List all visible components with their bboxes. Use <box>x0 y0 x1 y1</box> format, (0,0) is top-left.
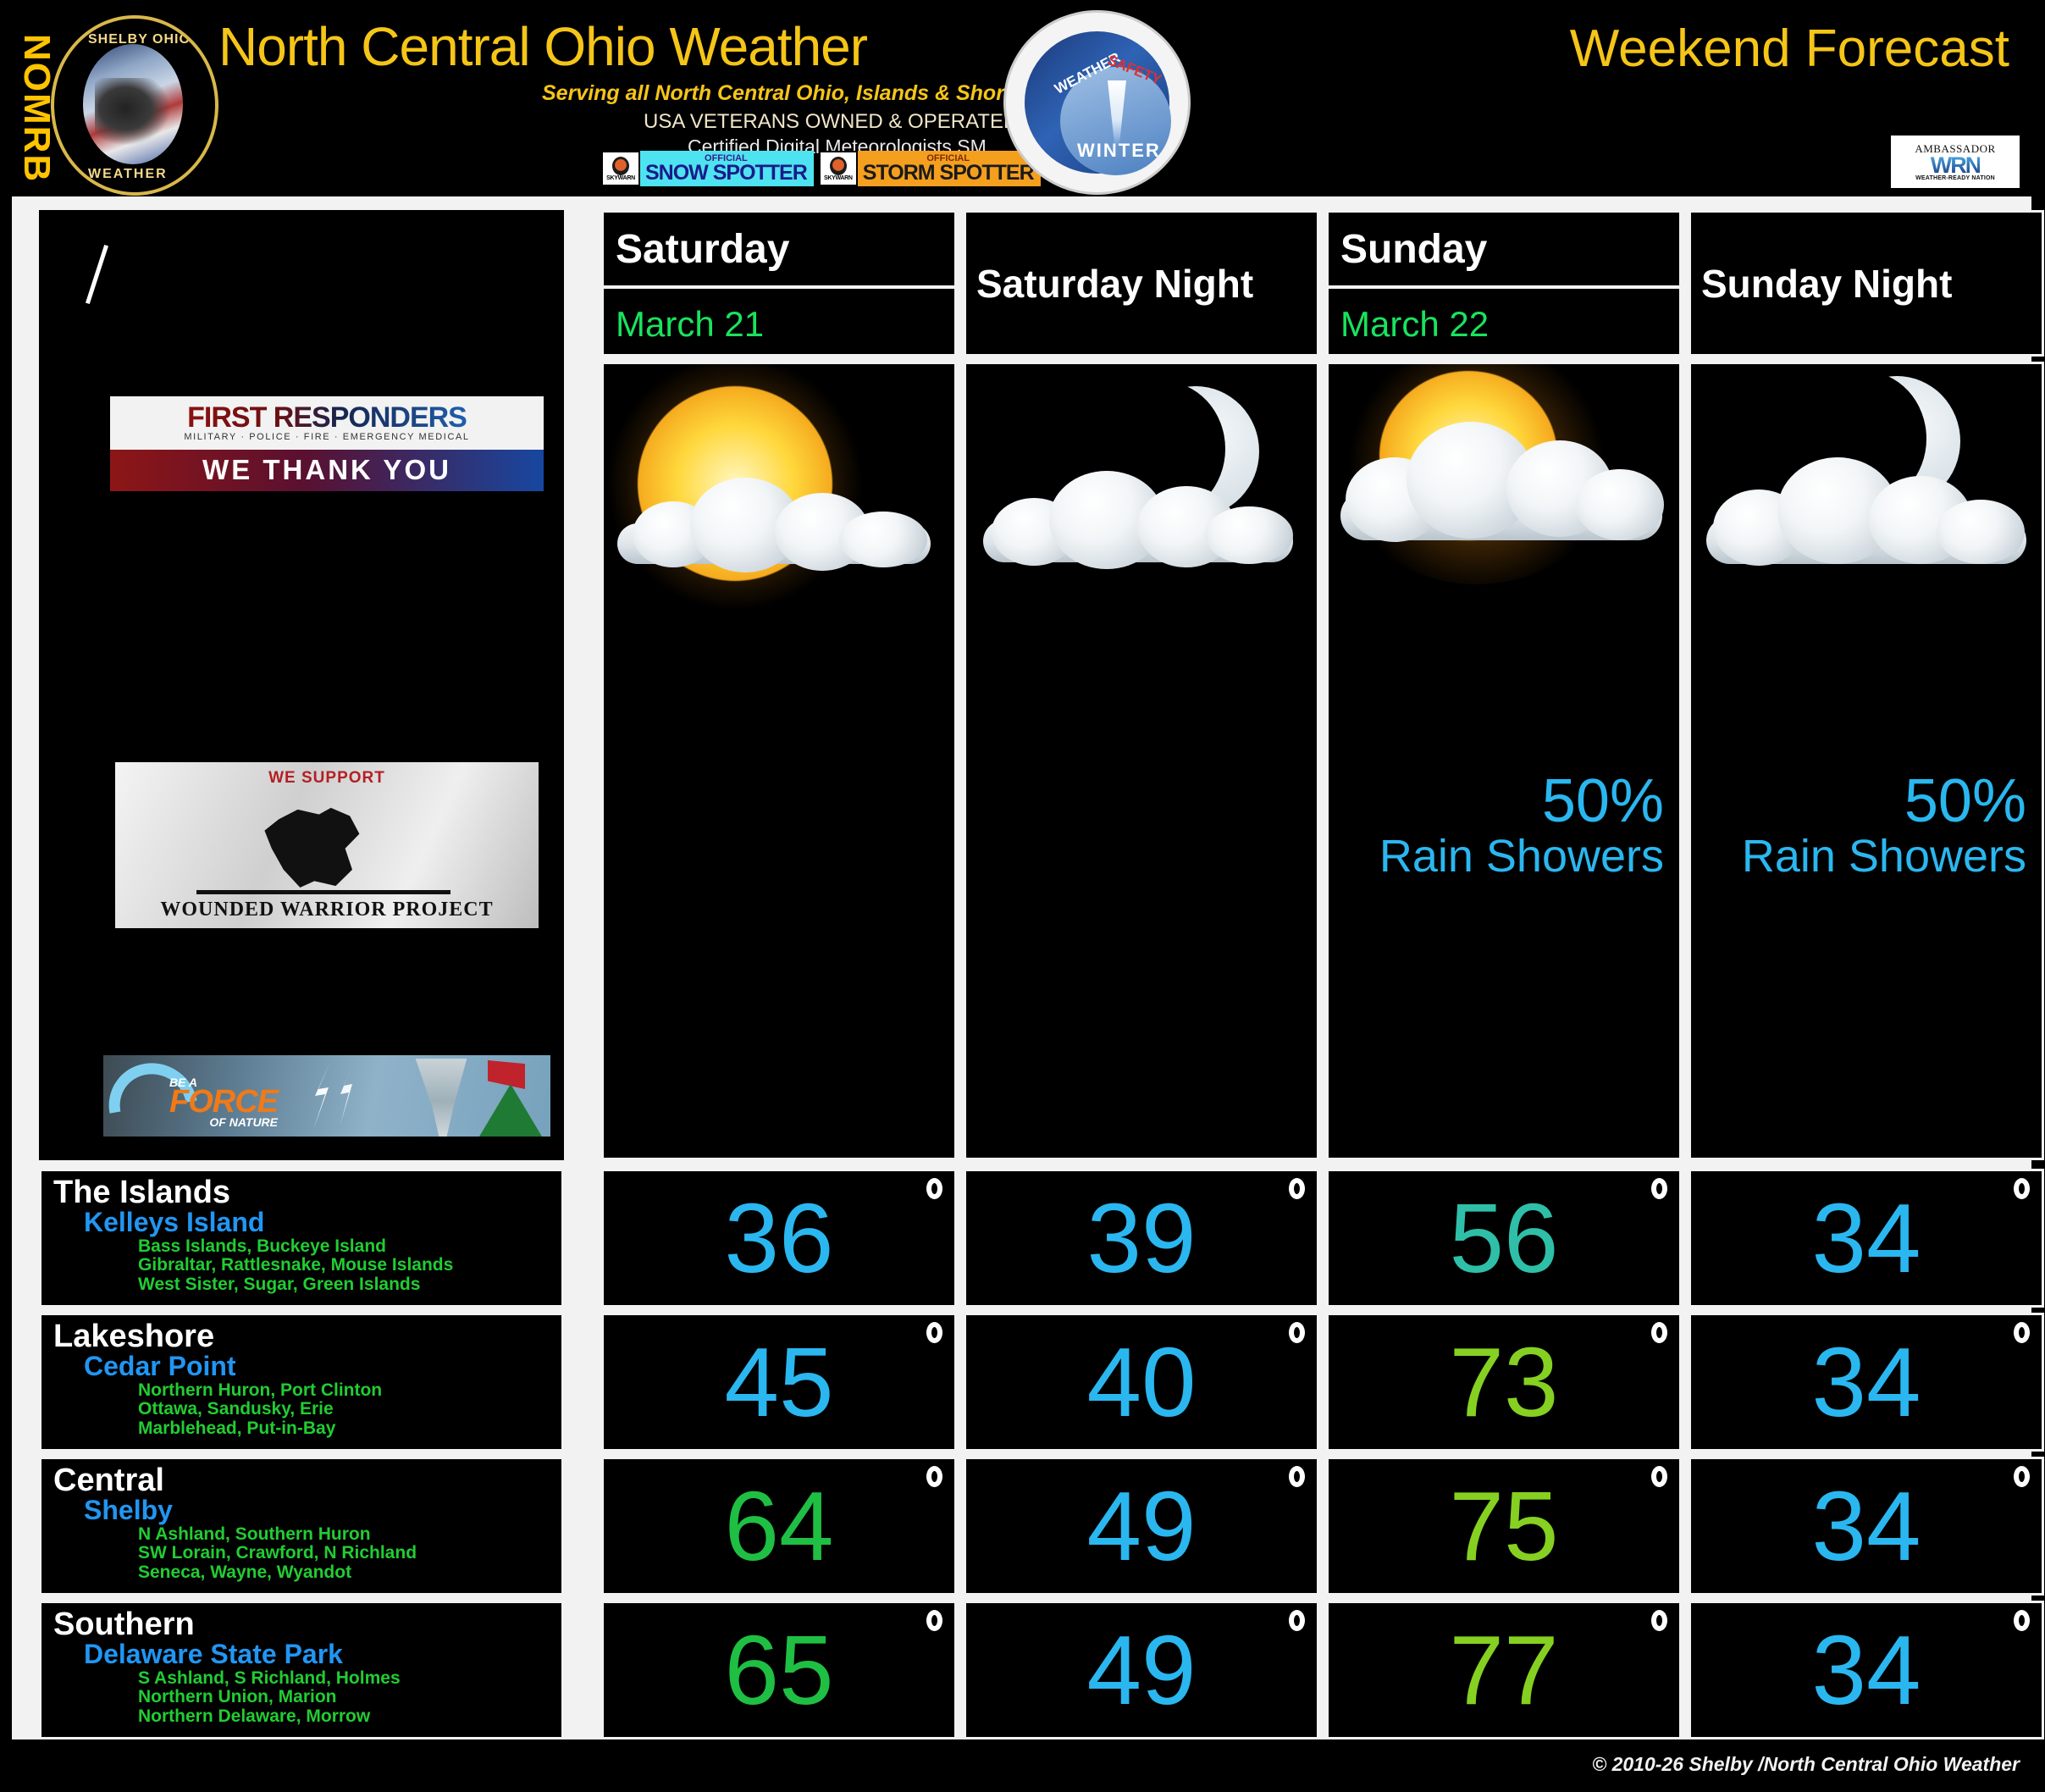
temp-value: 65 <box>724 1621 833 1719</box>
region-detail-2: SW Lorain, Crawford, N Richland <box>138 1544 561 1563</box>
temp-cell: 34 <box>1689 1457 2044 1596</box>
day-header-saturday: Saturday March 21 <box>601 210 957 357</box>
cloud-icon <box>1696 452 2038 566</box>
temp-value: 77 <box>1449 1621 1558 1719</box>
snow-spotter-badge: SKYWARN OFFICIAL SNOW SPOTTER <box>601 151 814 186</box>
temp-cell: 39 <box>964 1169 1319 1308</box>
region-labels: The Islands Kelleys Island Bass Islands,… <box>39 1169 564 1745</box>
degree-icon <box>2014 1610 2030 1631</box>
region-name: Lakeshore <box>53 1320 561 1352</box>
degree-icon <box>1651 1322 1667 1343</box>
first-responders-subline: MILITARY · POLICE · FIRE · EMERGENCY MED… <box>184 432 469 442</box>
temp-cell: 77 <box>1326 1601 1682 1739</box>
first-responders-bottom: WE THANK YOU <box>110 450 544 491</box>
region-row-lakeshore: Lakeshore Cedar Point Northern Huron, Po… <box>39 1313 564 1452</box>
degree-icon <box>2014 1322 2030 1343</box>
seal-text: SHELBY OHIO WEATHER <box>54 19 215 192</box>
region-city: Delaware State Park <box>84 1640 561 1669</box>
seal-bottom-text: WEATHER <box>88 167 168 182</box>
temp-cell: 49 <box>964 1601 1319 1739</box>
region-row-central: Central Shelby N Ashland, Southern Huron… <box>39 1457 564 1596</box>
skywarn-label-2: SKYWARN <box>824 175 853 181</box>
we-support-label: WE SUPPORT <box>115 762 539 788</box>
degree-icon <box>926 1466 942 1487</box>
precip-percent: 50% <box>1742 771 2026 832</box>
region-name: Southern <box>53 1608 561 1640</box>
temp-cell: 40 <box>964 1313 1319 1452</box>
region-name: Central <box>53 1464 561 1496</box>
site-subtitle-veterans: USA VETERANS OWNED & OPERATED <box>644 110 1018 134</box>
precip-probability-sunday-night: 50% Rain Showers <box>1742 771 2026 882</box>
page-footer: © 2010-26 Shelby /North Central Ohio Wea… <box>0 1739 2045 1792</box>
region-name: The Islands <box>53 1176 561 1208</box>
temp-cell: 34 <box>1689 1169 2044 1308</box>
storm-spotter-badge: SKYWARN OFFICIAL STORM SPOTTER <box>819 151 1041 186</box>
temp-value: 34 <box>1811 1189 1921 1287</box>
degree-icon <box>1289 1178 1305 1199</box>
wrn-logo-text: WRN <box>1931 156 1980 175</box>
seal-ring: WEATHER SAFETY WINTER <box>1025 31 1169 174</box>
region-row-southern: Southern Delaware State Park S Ashland, … <box>39 1601 564 1739</box>
snow-spotter-body: OFFICIAL SNOW SPOTTER <box>640 151 814 186</box>
skywarn-icon: SKYWARN <box>601 151 640 186</box>
forecast-column-sunday: Sunday March 22 50% Rain Showers <box>1326 210 1682 1160</box>
page-header: NOMRB SHELBY OHIO WEATHER North Central … <box>0 0 2045 196</box>
region-detail-1: S Ashland, S Richland, Holmes <box>138 1669 561 1689</box>
temp-cell: 65 <box>601 1601 957 1739</box>
region-city: Cedar Point <box>84 1352 561 1381</box>
spotter-badges: SKYWARN OFFICIAL SNOW SPOTTER SKYWARN OF… <box>601 151 1041 186</box>
day-name: Saturday <box>616 226 789 273</box>
region-row-the-islands: The Islands Kelleys Island Bass Islands,… <box>39 1169 564 1308</box>
degree-icon <box>1289 1322 1305 1343</box>
temp-value: 34 <box>1811 1477 1921 1575</box>
precip-type: Rain Showers <box>1379 832 1664 882</box>
copyright-text: © 2010-26 Shelby /North Central Ohio Wea… <box>1592 1753 2020 1776</box>
forecast-column-sunday-night: Sunday Night 50% Rain Showers <box>1689 210 2044 1160</box>
temp-cell: 75 <box>1326 1457 1682 1596</box>
precip-percent: 50% <box>1379 771 1664 832</box>
day-name-row: Saturday <box>604 213 954 289</box>
region-detail-1: Northern Huron, Port Clinton <box>138 1381 561 1401</box>
degree-icon <box>1651 1466 1667 1487</box>
sponsor-sidebar <box>39 210 564 1160</box>
storm-spotter-body: OFFICIAL STORM SPOTTER <box>858 151 1041 186</box>
temp-cell: 73 <box>1326 1313 1682 1452</box>
first-responders-top: FIRST RESPONDERS MILITARY · POLICE · FIR… <box>110 396 544 450</box>
temp-value: 39 <box>1086 1189 1196 1287</box>
temp-value: 49 <box>1086 1621 1196 1719</box>
temperature-column-sunday: 56 73 75 77 <box>1326 1169 1682 1745</box>
temp-cell: 34 <box>1689 1601 2044 1739</box>
wounded-warrior-banner: WE SUPPORT WOUNDED WARRIOR PROJECT <box>115 762 539 928</box>
first-responders-banner: FIRST RESPONDERS MILITARY · POLICE · FIR… <box>110 396 544 491</box>
temp-cell: 56 <box>1326 1169 1682 1308</box>
day-header-sunday: Sunday March 22 <box>1326 210 1682 357</box>
lightning-icon <box>281 1060 383 1131</box>
region-detail-2: Northern Union, Marion <box>138 1688 561 1707</box>
temp-value: 56 <box>1449 1189 1558 1287</box>
degree-icon <box>2014 1178 2030 1199</box>
temp-value: 34 <box>1811 1333 1921 1431</box>
day-header-saturday-night: Saturday Night <box>964 210 1319 357</box>
region-detail-3: Seneca, Wayne, Wyandot <box>138 1563 561 1583</box>
site-subtitle-serving: Serving all North Central Ohio, Islands … <box>542 81 1053 106</box>
wrn-ambassador-badge: AMBASSADOR WRN WEATHER-READY NATION <box>1891 136 2020 188</box>
degree-icon <box>926 1322 942 1343</box>
temp-value: 49 <box>1086 1477 1196 1575</box>
day-name-row: Sunday <box>1329 213 1679 289</box>
cloud-icon <box>1329 413 1676 549</box>
temp-value: 36 <box>724 1189 833 1287</box>
forecast-column-saturday-night: Saturday Night <box>964 210 1319 1160</box>
region-detail-3: Marblehead, Put-in-Bay <box>138 1419 561 1439</box>
temp-cell: 34 <box>1689 1313 2044 1452</box>
temp-value: 40 <box>1086 1333 1196 1431</box>
icicle-icon <box>1108 80 1126 147</box>
forecast-column-saturday: Saturday March 21 <box>601 210 957 1160</box>
degree-icon <box>1289 1610 1305 1631</box>
region-detail-1: Bass Islands, Buckeye Island <box>138 1237 561 1257</box>
temp-value: 45 <box>724 1333 833 1431</box>
day-date-row: March 21 <box>604 289 954 359</box>
region-detail-3: West Sister, Sugar, Green Islands <box>138 1275 561 1295</box>
wounded-warrior-silhouette-icon <box>257 806 376 888</box>
wrn-tagline: WEATHER-READY NATION <box>1915 175 1995 181</box>
first-responders-thanks: WE THANK YOU <box>202 454 451 486</box>
day-header-sunday-night: Sunday Night <box>1689 210 2044 357</box>
degree-icon <box>1289 1466 1305 1487</box>
skywarn-icon-2: SKYWARN <box>819 151 858 186</box>
snow-spotter-label: SNOW SPOTTER <box>645 163 807 184</box>
precip-type: Rain Showers <box>1742 832 2026 882</box>
day-name: Sunday Night <box>1701 261 1952 307</box>
force-of-nature-banner: BE A FORCE OF NATURE <box>103 1055 550 1137</box>
temp-value: 34 <box>1811 1621 1921 1719</box>
degree-icon <box>1651 1610 1667 1631</box>
day-date-row: March 22 <box>1329 289 1679 359</box>
temp-value: 64 <box>724 1477 833 1575</box>
cloud-icon <box>971 466 1310 564</box>
day-name: Saturday Night <box>976 261 1253 307</box>
temp-value: 73 <box>1449 1333 1558 1431</box>
skywarn-eye-icon <box>612 157 629 175</box>
day-date: March 21 <box>616 304 764 345</box>
sky-condition-sunday-night: 50% Rain Showers <box>1689 362 2044 1160</box>
sky-condition-saturday-night <box>964 362 1319 1160</box>
degree-icon <box>926 1610 942 1631</box>
precip-probability-sunday: 50% Rain Showers <box>1379 771 1664 882</box>
day-name: Sunday <box>1340 226 1487 273</box>
cloud-icon <box>609 471 948 564</box>
degree-icon <box>926 1178 942 1199</box>
skywarn-eye-icon-2 <box>830 157 847 175</box>
shelby-ohio-weather-seal-logo: SHELBY OHIO WEATHER <box>51 15 218 196</box>
region-detail-2: Gibraltar, Rattlesnake, Mouse Islands <box>138 1256 561 1275</box>
degree-icon <box>1651 1178 1667 1199</box>
temp-cell: 36 <box>601 1169 957 1308</box>
region-detail-2: Ottawa, Sandusky, Erie <box>138 1400 561 1419</box>
temp-cell: 64 <box>601 1457 957 1596</box>
site-title: North Central Ohio Weather <box>218 15 867 78</box>
first-responders-headline: FIRST RESPONDERS <box>187 404 467 431</box>
wounded-warrior-project-label: WOUNDED WARRIOR PROJECT <box>115 899 539 921</box>
wounded-warrior-baseline <box>196 890 450 894</box>
region-city: Kelleys Island <box>84 1208 561 1237</box>
temperature-column-sunday-night: 34 34 34 34 <box>1689 1169 2044 1745</box>
weather-safety-winter-seal: WEATHER SAFETY WINTER <box>1003 10 1191 195</box>
temp-value: 75 <box>1449 1477 1558 1575</box>
region-detail-3: Northern Delaware, Morrow <box>138 1707 561 1727</box>
temperature-column-saturday-night: 39 40 49 49 <box>964 1169 1319 1745</box>
degree-icon <box>2014 1466 2030 1487</box>
page-title: Weekend Forecast <box>1570 19 2009 79</box>
force-text: BE A FORCE OF NATURE <box>169 1076 278 1129</box>
temp-cell: 49 <box>964 1457 1319 1596</box>
sky-condition-saturday <box>601 362 957 1160</box>
sky-condition-sunday: 50% Rain Showers <box>1326 362 1682 1160</box>
skywarn-label: SKYWARN <box>606 175 635 181</box>
seal-word-winter: WINTER <box>1077 140 1161 162</box>
day-date: March 22 <box>1340 304 1489 345</box>
temp-cell: 45 <box>601 1313 957 1452</box>
storm-spotter-label: STORM SPOTTER <box>863 163 1034 184</box>
seal-top-text: SHELBY OHIO <box>88 32 191 47</box>
region-city: Shelby <box>84 1496 561 1525</box>
temperature-column-saturday: 36 45 64 65 <box>601 1169 957 1745</box>
region-detail-1: N Ashland, Southern Huron <box>138 1525 561 1545</box>
force-word: FORCE <box>169 1089 278 1115</box>
